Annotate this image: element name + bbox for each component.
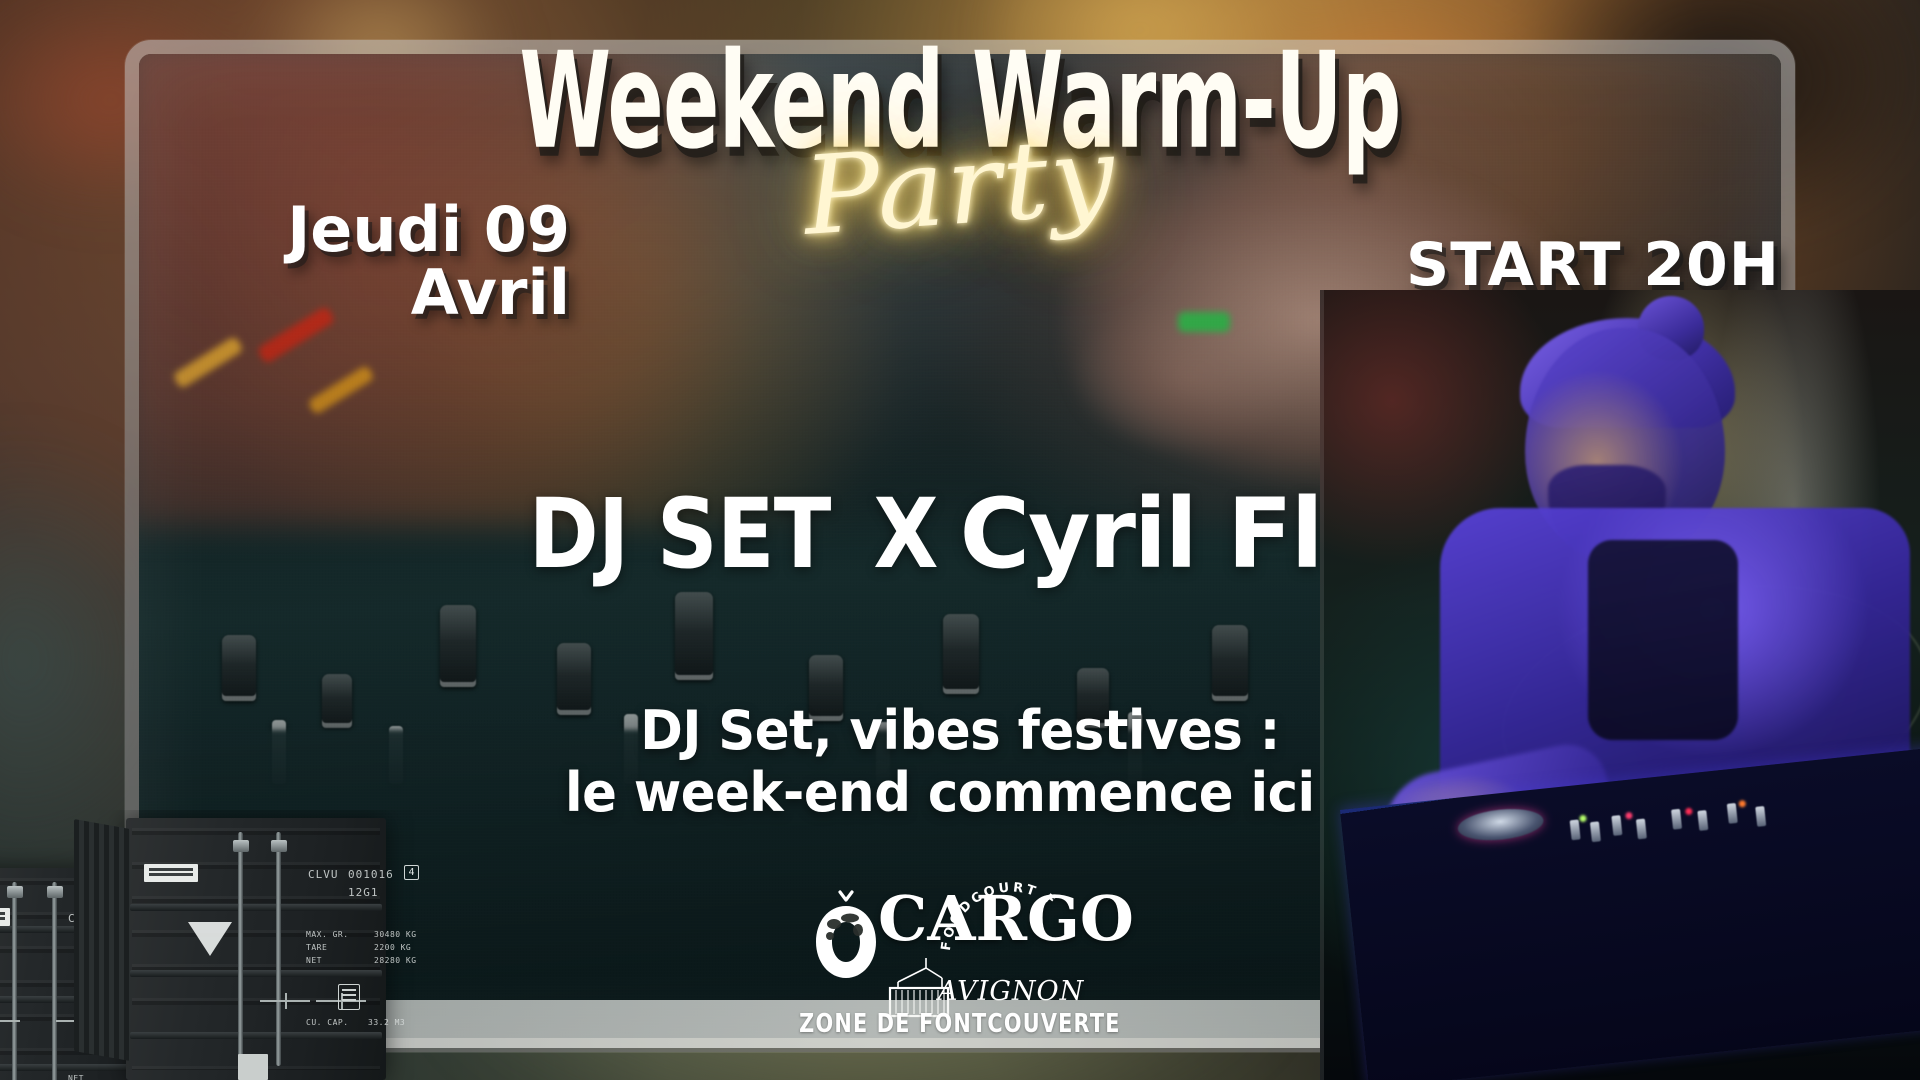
container-right-cucap-label: CU. CAP. bbox=[306, 1018, 349, 1027]
event-date-line-1: Jeudi 09 bbox=[140, 198, 570, 261]
shipping-containers-graphic: CLVU 005013 0 NET GR. CU. CAP. CLVU 0010… bbox=[0, 810, 480, 1080]
container-left-net-label: NET bbox=[68, 1074, 84, 1080]
container-right-maxgr-label: MAX. GR. bbox=[306, 930, 349, 939]
event-date: Jeudi 09 Avril bbox=[140, 198, 570, 324]
container-right-plate bbox=[144, 864, 198, 882]
svg-text:FOODCOURT FESTIF: FOODCOURT FESTIF bbox=[938, 876, 1060, 952]
container-right-net-label: NET bbox=[306, 956, 322, 965]
event-date-line-2: Avril bbox=[140, 261, 570, 324]
container-right-cucap-value: 33.2 M3 bbox=[368, 1018, 405, 1027]
container-right-type-code: 12G1 bbox=[348, 886, 379, 899]
container-right-corrugated-side bbox=[74, 819, 130, 1061]
container-right-net-value: 28280 KG bbox=[374, 956, 417, 965]
dj-photo-left-edge bbox=[1320, 290, 1324, 1080]
container-right-doc-icon bbox=[338, 984, 360, 1010]
container-right-maxgr-value: 30480 KG bbox=[374, 930, 417, 939]
ocargo-logo: CARGO FOODCOURT FESTIF AVIGNON bbox=[810, 880, 1110, 1020]
dj-shirt bbox=[1588, 540, 1738, 740]
container-right-serial: 001016 bbox=[348, 868, 394, 881]
headline-x: X bbox=[857, 478, 953, 590]
headline-dj-set: DJ SET bbox=[528, 478, 830, 590]
dj-jog-wheel bbox=[1456, 805, 1545, 844]
container-right-check-digit: 4 bbox=[404, 865, 419, 880]
container-right-tare-value: 2200 KG bbox=[374, 943, 411, 952]
venue-zone-label: ZONE DE FONTCOUVERTE bbox=[799, 1009, 1120, 1039]
container-right: CLVU 001016 4 12G1 MAX. GR. 30480 KG TAR… bbox=[126, 818, 386, 1080]
event-poster: Weekend Warm-Up Party Jeudi 09 Avril STA… bbox=[0, 0, 1920, 1080]
dj-artist-photo bbox=[1320, 290, 1920, 1080]
container-right-warning-triangle bbox=[188, 922, 232, 956]
container-right-code: CLVU bbox=[308, 868, 339, 881]
container-right-tare-label: TARE bbox=[306, 943, 327, 952]
